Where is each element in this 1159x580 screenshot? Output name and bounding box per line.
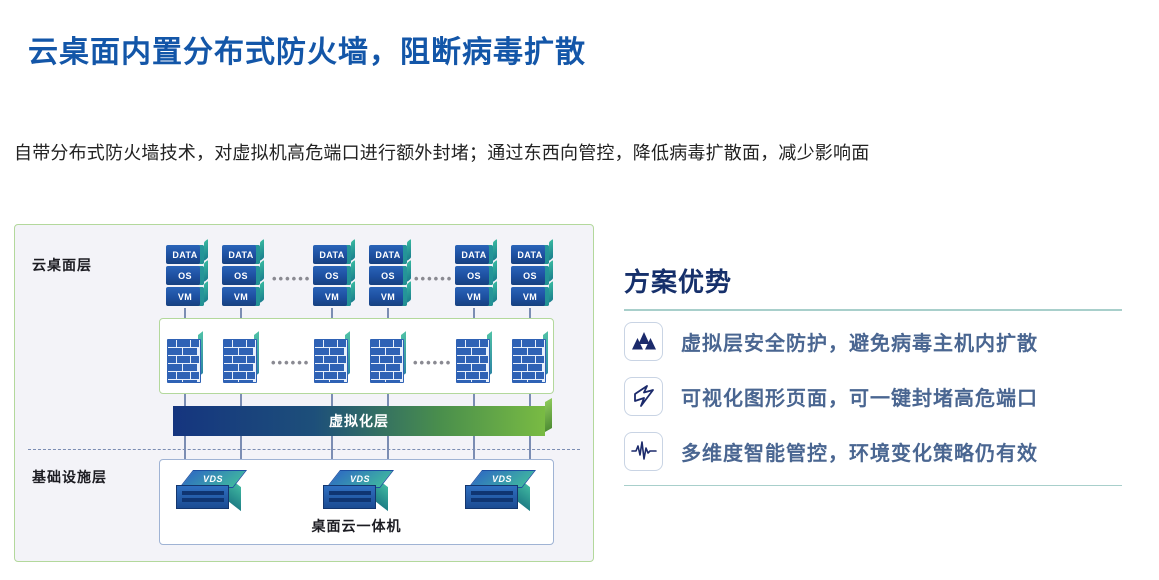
firewall-icon	[223, 339, 259, 381]
vm-cell-data: DATA	[222, 245, 260, 264]
vm-stack: DATA OS VM	[313, 245, 351, 308]
vm-cell-os: OS	[511, 266, 549, 285]
vm-cell-data: DATA	[313, 245, 351, 264]
virtualization-layer-bar: 虚拟化层	[173, 406, 545, 436]
mountains-icon	[624, 322, 663, 361]
layer-label-cloud-desktop: 云桌面层	[32, 255, 92, 275]
vm-cell-os: OS	[166, 266, 204, 285]
vm-cell-label: DATA	[517, 250, 542, 260]
vds-server-icon: VDS	[465, 470, 533, 512]
vds-server-icon: VDS	[323, 470, 391, 512]
vm-cell-os: OS	[313, 266, 351, 285]
vm-cell-label: OS	[381, 271, 395, 281]
vm-stack: DATA OS VM	[455, 245, 493, 308]
vm-cell-vm: VM	[455, 287, 493, 306]
vm-cell-vm: VM	[511, 287, 549, 306]
vm-cell-vm: VM	[222, 287, 260, 306]
vm-cell-label: VM	[381, 292, 395, 302]
advantages-divider-top	[624, 309, 1122, 311]
vds-server-label: VDS	[350, 474, 370, 484]
vm-stack: DATA OS VM	[369, 245, 407, 308]
vm-cell-os: OS	[369, 266, 407, 285]
vm-cell-os: OS	[455, 266, 493, 285]
ellipsis-dots: ••••••	[413, 355, 452, 370]
vm-cell-label: VM	[234, 292, 248, 302]
vm-cell-data: DATA	[166, 245, 204, 264]
vm-cell-label: OS	[234, 271, 248, 281]
vm-cell-label: OS	[523, 271, 537, 281]
vm-stack: DATA OS VM	[222, 245, 260, 308]
vm-cell-label: VM	[325, 292, 339, 302]
vm-cell-data: DATA	[369, 245, 407, 264]
advantage-text: 多维度智能管控，环境变化策略仍有效	[681, 437, 1038, 466]
vds-server-label: VDS	[203, 474, 223, 484]
lightning-bolt-icon	[624, 377, 663, 416]
firewall-icon	[512, 339, 548, 381]
advantages-panel: 方案优势 虚拟层安全防护，避免病毒主机内扩散 可视化图形页面，可一键封堵高危端口…	[624, 262, 1134, 486]
advantage-row[interactable]: 虚拟层安全防护，避免病毒主机内扩散	[624, 317, 1134, 366]
advantages-title: 方案优势	[624, 262, 1134, 299]
vm-cell-vm: VM	[166, 287, 204, 306]
vds-server-icon: VDS	[176, 470, 244, 512]
vm-cell-os: OS	[222, 266, 260, 285]
vm-cell-data: DATA	[455, 245, 493, 264]
layer-divider	[28, 449, 580, 450]
vm-cell-label: VM	[467, 292, 481, 302]
vm-cell-vm: VM	[369, 287, 407, 306]
advantage-row[interactable]: 可视化图形页面，可一键封堵高危端口	[624, 372, 1134, 421]
vds-server-label: VDS	[492, 474, 512, 484]
vm-stack: DATA OS VM	[511, 245, 549, 308]
vm-cell-label: VM	[523, 292, 537, 302]
advantage-row[interactable]: 多维度智能管控，环境变化策略仍有效	[624, 427, 1134, 476]
vm-stack: DATA OS VM	[166, 245, 204, 308]
vm-cell-data: DATA	[511, 245, 549, 264]
virtualization-layer-label: 虚拟化层	[329, 411, 389, 431]
advantage-text: 虚拟层安全防护，避免病毒主机内扩散	[681, 327, 1038, 356]
advantages-divider-bottom	[624, 485, 1122, 487]
ellipsis-dots: ••••••	[271, 355, 310, 370]
vm-cell-label: DATA	[461, 250, 486, 260]
page-title: 云桌面内置分布式防火墙，阻断病毒扩散	[28, 27, 586, 71]
vm-cell-label: DATA	[172, 250, 197, 260]
vm-cell-label: VM	[178, 292, 192, 302]
ellipsis-dots: ••••••	[414, 271, 453, 286]
firewall-icon	[167, 339, 203, 381]
firewall-icon	[314, 339, 350, 381]
vm-cell-label: OS	[178, 271, 192, 281]
pulse-wave-icon	[624, 432, 663, 471]
firewall-icon	[456, 339, 492, 381]
server-caption: 桌面云一体机	[160, 516, 553, 536]
vm-cell-label: DATA	[375, 250, 400, 260]
ellipsis-dots: ••••••	[272, 271, 311, 286]
advantage-text: 可视化图形页面，可一键封堵高危端口	[681, 382, 1038, 411]
vm-cell-label: DATA	[228, 250, 253, 260]
page-subtitle: 自带分布式防火墙技术，对虚拟机高危端口进行额外封堵；通过东西向管控，降低病毒扩散…	[14, 139, 869, 165]
layer-label-infrastructure: 基础设施层	[32, 467, 107, 487]
firewall-icon	[370, 339, 406, 381]
vm-cell-label: DATA	[319, 250, 344, 260]
vm-cell-label: OS	[325, 271, 339, 281]
vm-cell-vm: VM	[313, 287, 351, 306]
firewall-layer-box	[159, 318, 554, 394]
vm-cell-label: OS	[467, 271, 481, 281]
